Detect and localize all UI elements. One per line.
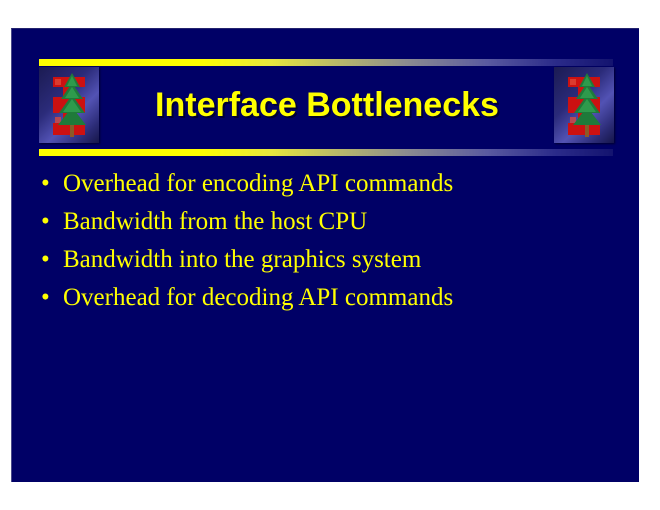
stanford-s-tree-icon [554, 67, 614, 143]
list-item: • Overhead for decoding API commands [12, 279, 639, 317]
bullet-glyph: • [41, 279, 63, 317]
list-item: • Overhead for encoding API commands [12, 165, 639, 203]
stanford-logo-right [554, 67, 614, 143]
stanford-s-tree-icon [39, 67, 99, 143]
presentation-slide: Interface Bottlenecks [11, 28, 639, 482]
list-item-label: Bandwidth from the host CPU [41, 203, 367, 241]
list-item-label: Bandwidth into the graphics system [41, 241, 421, 279]
title-rule-top [39, 59, 613, 66]
list-item-label: Overhead for decoding API commands [41, 279, 453, 317]
title-rule-bottom [39, 149, 613, 156]
slide-title: Interface Bottlenecks [112, 67, 542, 143]
bullet-glyph: • [41, 203, 63, 241]
bullet-list: • Overhead for encoding API commands • B… [12, 165, 639, 317]
bullet-glyph: • [41, 165, 63, 203]
list-item: • Bandwidth into the graphics system [12, 241, 639, 279]
stanford-logo-left [39, 67, 99, 143]
list-item-label: Overhead for encoding API commands [41, 165, 453, 203]
slide-title-band: Interface Bottlenecks [12, 29, 639, 159]
bullet-glyph: • [41, 241, 63, 279]
list-item: • Bandwidth from the host CPU [12, 203, 639, 241]
